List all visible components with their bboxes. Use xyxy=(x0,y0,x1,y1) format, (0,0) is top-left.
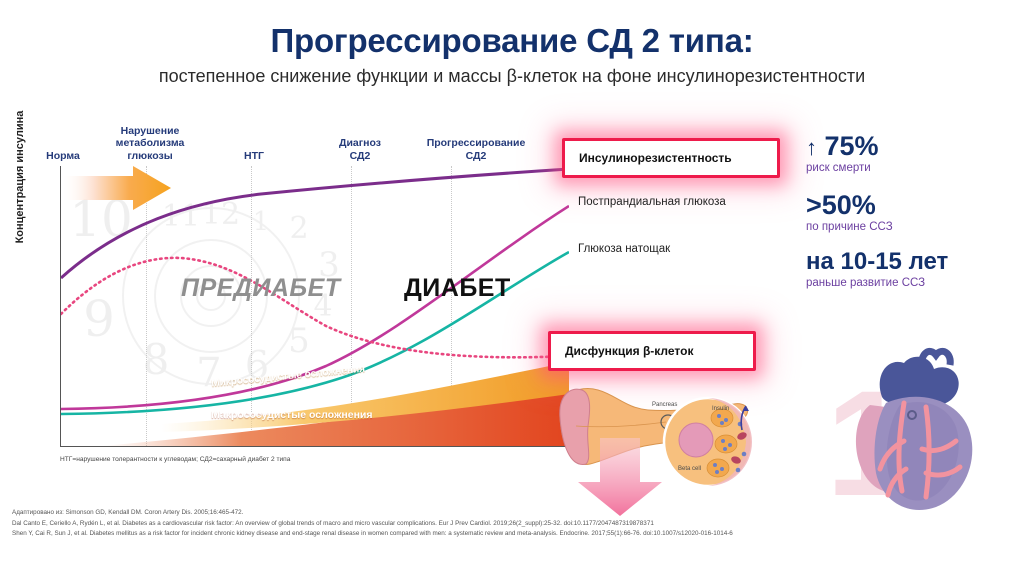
insulin-label: Insulin xyxy=(712,406,729,412)
stage-text: Норма xyxy=(46,150,80,162)
stage-text: НТГ xyxy=(244,150,264,162)
reference-item: Dal Canto E, Ceriello A, Rydén L, et al.… xyxy=(12,519,1012,530)
progression-chart: Норма Нарушениеметаболизмаглюкозы НТГ Ди… xyxy=(28,112,568,462)
slide-root: Прогрессирование СД 2 типа: постепенное … xyxy=(0,0,1024,575)
stat-caption: раньше развитие ССЗ xyxy=(806,277,1018,289)
stage-label-norma: Норма xyxy=(30,150,96,163)
callout-postprandial-glucose-label: Постпрандиальная глюкоза xyxy=(578,196,726,208)
references-block: Адаптировано из: Simonson GD, Kendall DM… xyxy=(12,508,1012,540)
callout-beta-cell-dysfunction-label: Дисфункция β-клеток xyxy=(565,344,693,358)
stat-value: 75% xyxy=(825,131,879,161)
stage-label-diagnosis: ДиагнозСД2 xyxy=(320,137,400,162)
callout-fasting-glucose-label: Глюкоза натощак xyxy=(578,243,670,255)
stat-cvd-cause: >50% по причине ССЗ xyxy=(806,191,1018,233)
callout-beta-cell-dysfunction-box[interactable]: Дисфункция β-клеток xyxy=(548,331,756,371)
down-arrow-icon xyxy=(578,438,668,516)
statistics-panel: ↑ 75% риск смерти >50% по причине ССЗ на… xyxy=(806,132,1018,306)
stage-label-ntg: НТГ xyxy=(224,150,284,163)
reference-item: Адаптировано из: Simonson GD, Kendall DM… xyxy=(12,508,1012,519)
up-arrow-icon: ↑ xyxy=(806,135,817,160)
chart-footnote: НТГ=нарушение толерантности к углеводам;… xyxy=(60,456,460,463)
callout-postprandial-glucose: Постпрандиальная глюкоза xyxy=(578,196,726,208)
page-subtitle: постепенное снижение функции и массы β-к… xyxy=(0,66,1024,87)
curve-beta-cell-function xyxy=(61,258,569,357)
stage-label-row: Норма Нарушениеметаболизмаглюкозы НТГ Ди… xyxy=(28,112,568,164)
reference-item: Shen Y, Cai R, Sun J, et al. Diabetes me… xyxy=(12,529,1012,540)
callout-insulin-resistance-box[interactable]: Инсулинорезистентность xyxy=(562,138,780,178)
stage-label-glucose-metabolism: Нарушениеметаболизмаглюкозы xyxy=(102,125,198,163)
pancreas-label: Pancreas xyxy=(652,402,677,408)
y-axis-label: Концентрация инсулина xyxy=(14,92,26,262)
callout-fasting-glucose: Глюкоза натощак xyxy=(578,243,670,255)
macrovascular-band-label: Макрососудистые осложнения xyxy=(211,409,373,421)
stat-earlier-cvd: на 10-15 лет раньше развитие ССЗ xyxy=(806,250,1018,289)
diabetes-label: ДИАБЕТ xyxy=(404,274,511,303)
stage-label-progression: ПрогрессированиеСД2 xyxy=(406,137,546,162)
stat-value: >50% xyxy=(806,191,1018,219)
callout-insulin-resistance-label: Инсулинорезистентность xyxy=(579,151,732,165)
stat-value: на 10-15 лет xyxy=(806,250,1018,275)
plot-area: 10 9 8 7 6 5 4 3 2 11 12 1 xyxy=(60,166,569,447)
stat-caption: по причине ССЗ xyxy=(806,221,1018,233)
progression-arrow-icon xyxy=(61,166,171,210)
page-title: Прогрессирование СД 2 типа: xyxy=(0,22,1024,60)
prediabetes-label: ПРЕДИАБЕТ xyxy=(181,274,341,303)
heart-illustration: 1 xyxy=(826,345,1008,517)
beta-cell-label: Beta cell xyxy=(678,466,701,472)
stat-mortality-risk: ↑ 75% риск смерти xyxy=(806,132,1018,174)
stat-caption: риск смерти xyxy=(806,162,1018,174)
